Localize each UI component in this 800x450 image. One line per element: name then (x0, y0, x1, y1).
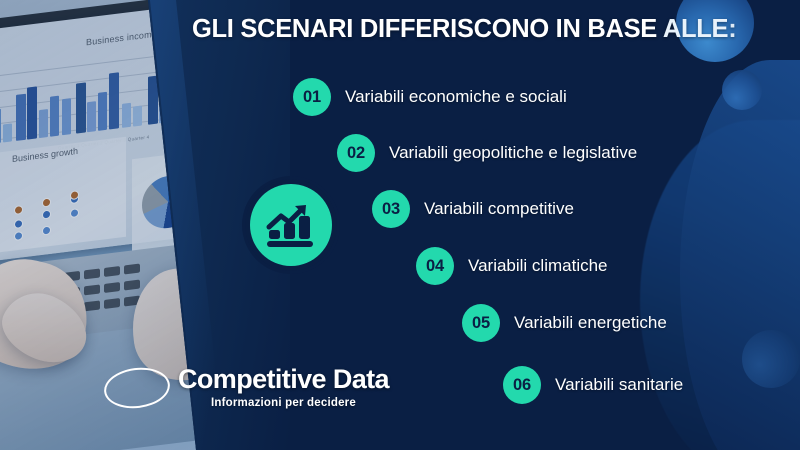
logo: Competitive Data Informazioni per decide… (104, 366, 389, 410)
item-label: Variabili competitive (424, 199, 574, 219)
list-item[interactable]: 03 Variabili competitive (372, 190, 574, 228)
ellipse-ring-icon (102, 364, 172, 412)
page-title-main: GLI SCENARI DIFFERISCONO IN BASE (192, 15, 663, 43)
page-title: GLI SCENARI DIFFERISCONO IN BASE ALLE: (192, 15, 772, 44)
item-number-badge: 04 (416, 247, 454, 285)
slide-canvas: Business income (0, 0, 800, 450)
list-item[interactable]: 02 Variabili geopolitiche e legislative (337, 134, 637, 172)
item-number-badge: 03 (372, 190, 410, 228)
item-number-badge: 06 (503, 366, 541, 404)
item-number-badge: 02 (337, 134, 375, 172)
item-label: Variabili climatiche (468, 256, 608, 276)
item-label: Variabili economiche e sociali (345, 87, 567, 107)
item-number-badge: 05 (462, 304, 500, 342)
item-label: Variabili energetiche (514, 313, 667, 333)
list-item[interactable]: 04 Variabili climatiche (416, 247, 608, 285)
decorative-circle-bottom-right (742, 330, 800, 388)
list-item[interactable]: 05 Variabili energetiche (462, 304, 667, 342)
page-title-highlight: ALLE (663, 15, 728, 43)
logo-name: Competitive Data (178, 366, 389, 393)
bar-chart-growth-icon (250, 184, 332, 266)
item-label: Variabili geopolitiche e legislative (389, 143, 637, 163)
item-label: Variabili sanitarie (555, 375, 683, 395)
list-item[interactable]: 06 Variabili sanitarie (503, 366, 683, 404)
decorative-circle-small (722, 70, 762, 110)
page-title-colon: : (728, 15, 736, 43)
right-gradient-blob-secondary (680, 60, 800, 450)
logo-tagline: Informazioni per decidere (178, 398, 389, 410)
item-number-badge: 01 (293, 78, 331, 116)
list-item[interactable]: 01 Variabili economiche e sociali (293, 78, 567, 116)
